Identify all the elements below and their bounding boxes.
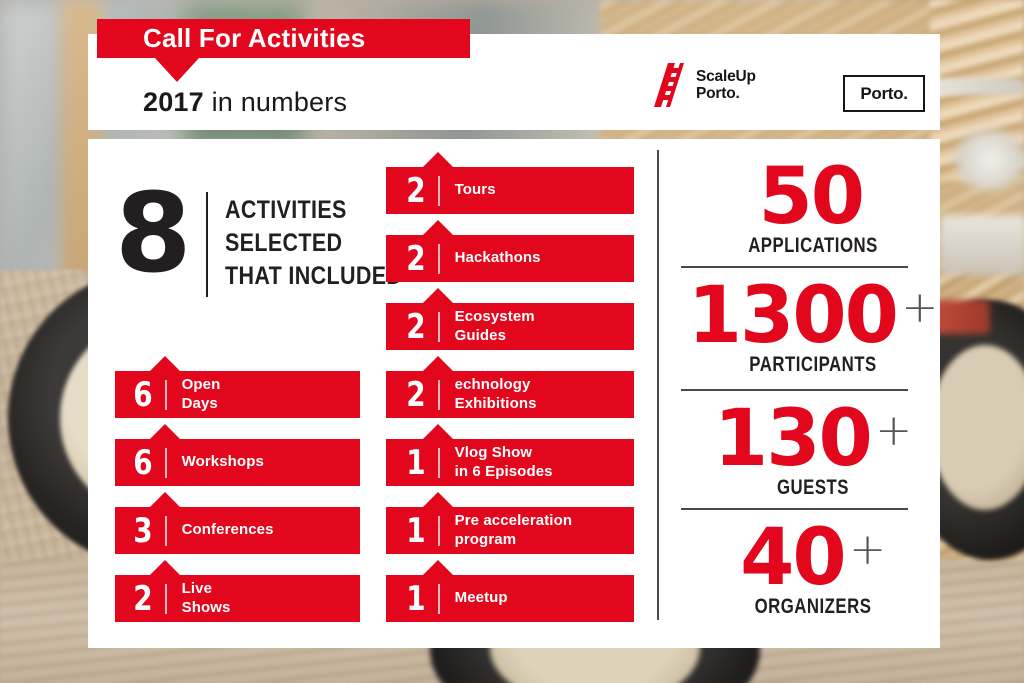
stats-vertical-divider [657, 150, 659, 620]
bar-label-line: Days [182, 395, 221, 413]
bar-notch-icon [150, 356, 180, 371]
bar-label: echnology Exhibitions [455, 376, 537, 413]
bar-label-line: echnology [455, 376, 537, 394]
activities-text-line: THAT INCLUDED [225, 260, 402, 293]
bar-separator [438, 176, 440, 206]
stat-bar-tours[interactable]: 2 Tours [386, 167, 634, 214]
bar-notch-icon [150, 424, 180, 439]
bar-count: 2 [403, 310, 429, 344]
bar-label-line: Shows [182, 599, 231, 617]
stat-bar-hackathons[interactable]: 2 Hackathons [386, 235, 634, 282]
subtitle-rest: in numbers [204, 87, 347, 117]
bar-separator [165, 584, 167, 614]
bar-label: Open Days [182, 376, 221, 413]
bar-notch-icon [423, 560, 453, 575]
bar-notch-icon [423, 288, 453, 303]
bar-label-line: Conferences [182, 521, 274, 539]
bar-label: Conferences [182, 521, 274, 539]
stat-label: APPLICATIONS [709, 234, 917, 258]
porto-logo: Porto. [843, 75, 925, 112]
bar-separator [438, 312, 440, 342]
bar-count: 1 [403, 582, 429, 616]
bar-label-line: Live [182, 580, 231, 598]
bar-count: 3 [130, 514, 156, 548]
stat-label: ORGANIZERS [709, 595, 917, 619]
bar-separator [438, 244, 440, 274]
stat-plus: + [875, 405, 912, 456]
bar-label: Pre acceleration program [455, 512, 573, 549]
stat-organizers: 40 + ORGANIZERS [683, 524, 943, 619]
bar-notch-icon [423, 424, 453, 439]
stat-bar-workshops[interactable]: 6 Workshops [115, 439, 360, 486]
bar-label: Vlog Show in 6 Episodes [455, 444, 553, 481]
bar-count: 2 [130, 582, 156, 616]
bar-label-line: Tours [455, 181, 496, 199]
bar-label-line: Meetup [455, 589, 508, 607]
stats-horizontal-divider [681, 508, 908, 510]
bar-count: 1 [403, 446, 429, 480]
bar-count: 6 [130, 446, 156, 480]
stat-value: 1300 [688, 282, 897, 351]
stat-bar-ecosystem-guides[interactable]: 2 Ecosystem Guides [386, 303, 634, 350]
bar-label-line: Hackathons [455, 249, 541, 267]
bar-label: Hackathons [455, 249, 541, 267]
bar-label-line: program [455, 531, 573, 549]
bar-notch-icon [423, 356, 453, 371]
stat-bar-vlog-show[interactable]: 1 Vlog Show in 6 Episodes [386, 439, 634, 486]
scaleup-porto-logo-text: ScaleUp Porto. [696, 68, 756, 103]
bar-separator [438, 448, 440, 478]
page-title: Call For Activities [143, 19, 473, 58]
bar-label-line: Vlog Show [455, 444, 553, 462]
bar-label: Meetup [455, 589, 508, 607]
bar-separator [165, 380, 167, 410]
scaleup-porto-logo: ScaleUp Porto. [648, 63, 756, 107]
activities-divider [206, 192, 208, 297]
stat-guests: 130 + GUESTS [683, 405, 943, 500]
ladder-icon [648, 63, 688, 107]
activities-text-line: SELECTED [225, 227, 402, 260]
stat-plus: + [901, 282, 938, 333]
bar-count: 2 [403, 378, 429, 412]
porto-logo-text: Porto. [860, 84, 907, 104]
scaleup-logo-line1: ScaleUp [696, 68, 756, 85]
bar-notch-icon [423, 152, 453, 167]
bar-count: 2 [403, 174, 429, 208]
stat-label: GUESTS [709, 476, 917, 500]
stat-bar-meetup[interactable]: 1 Meetup [386, 575, 634, 622]
bar-label: Tours [455, 181, 496, 199]
stat-applications: 50 APPLICATIONS [683, 163, 943, 258]
subtitle: 2017 in numbers [143, 87, 347, 118]
bar-label-line: Workshops [182, 453, 264, 471]
bar-notch-icon [423, 220, 453, 235]
bar-label-line: Guides [455, 327, 535, 345]
bar-notch-icon [150, 492, 180, 507]
bar-count: 6 [130, 378, 156, 412]
stat-value: 40 [740, 524, 845, 593]
bar-count: 2 [403, 242, 429, 276]
bar-count: 1 [403, 514, 429, 548]
stat-bar-open-days[interactable]: 6 Open Days [115, 371, 360, 418]
bar-label-line: Pre acceleration [455, 512, 573, 530]
bar-label-line: Ecosystem [455, 308, 535, 326]
bar-label: Ecosystem Guides [455, 308, 535, 345]
bar-notch-icon [150, 560, 180, 575]
stat-label: PARTICIPANTS [709, 353, 917, 377]
stat-bar-technology-exhibitions[interactable]: 2 echnology Exhibitions [386, 371, 634, 418]
bar-notch-icon [423, 492, 453, 507]
stat-participants: 1300 + PARTICIPANTS [683, 282, 943, 377]
stats-horizontal-divider [681, 389, 908, 391]
bar-separator [165, 448, 167, 478]
bar-label: Workshops [182, 453, 264, 471]
stats-horizontal-divider [681, 266, 908, 268]
bar-separator [438, 516, 440, 546]
activities-summary: 8 ACTIVITIES SELECTED THAT INCLUDED [115, 186, 431, 297]
bar-separator [165, 516, 167, 546]
stat-plus: + [849, 524, 886, 575]
subtitle-year: 2017 [143, 87, 204, 117]
bar-separator [438, 584, 440, 614]
stat-value: 50 [759, 163, 864, 232]
bar-label-line: Open [182, 376, 221, 394]
bar-label-line: in 6 Episodes [455, 463, 553, 481]
title-banner-pointer [155, 58, 199, 82]
stat-value: 130 [714, 405, 871, 474]
activities-text-line: ACTIVITIES [225, 194, 402, 227]
scaleup-logo-line2: Porto. [696, 85, 756, 102]
stat-bar-pre-acceleration[interactable]: 1 Pre acceleration program [386, 507, 634, 554]
activities-count: 8 [115, 186, 188, 281]
stat-bar-live-shows[interactable]: 2 Live Shows [115, 575, 360, 622]
bar-label-line: Exhibitions [455, 395, 537, 413]
bar-separator [438, 380, 440, 410]
stat-bar-conferences[interactable]: 3 Conferences [115, 507, 360, 554]
bar-label: Live Shows [182, 580, 231, 617]
